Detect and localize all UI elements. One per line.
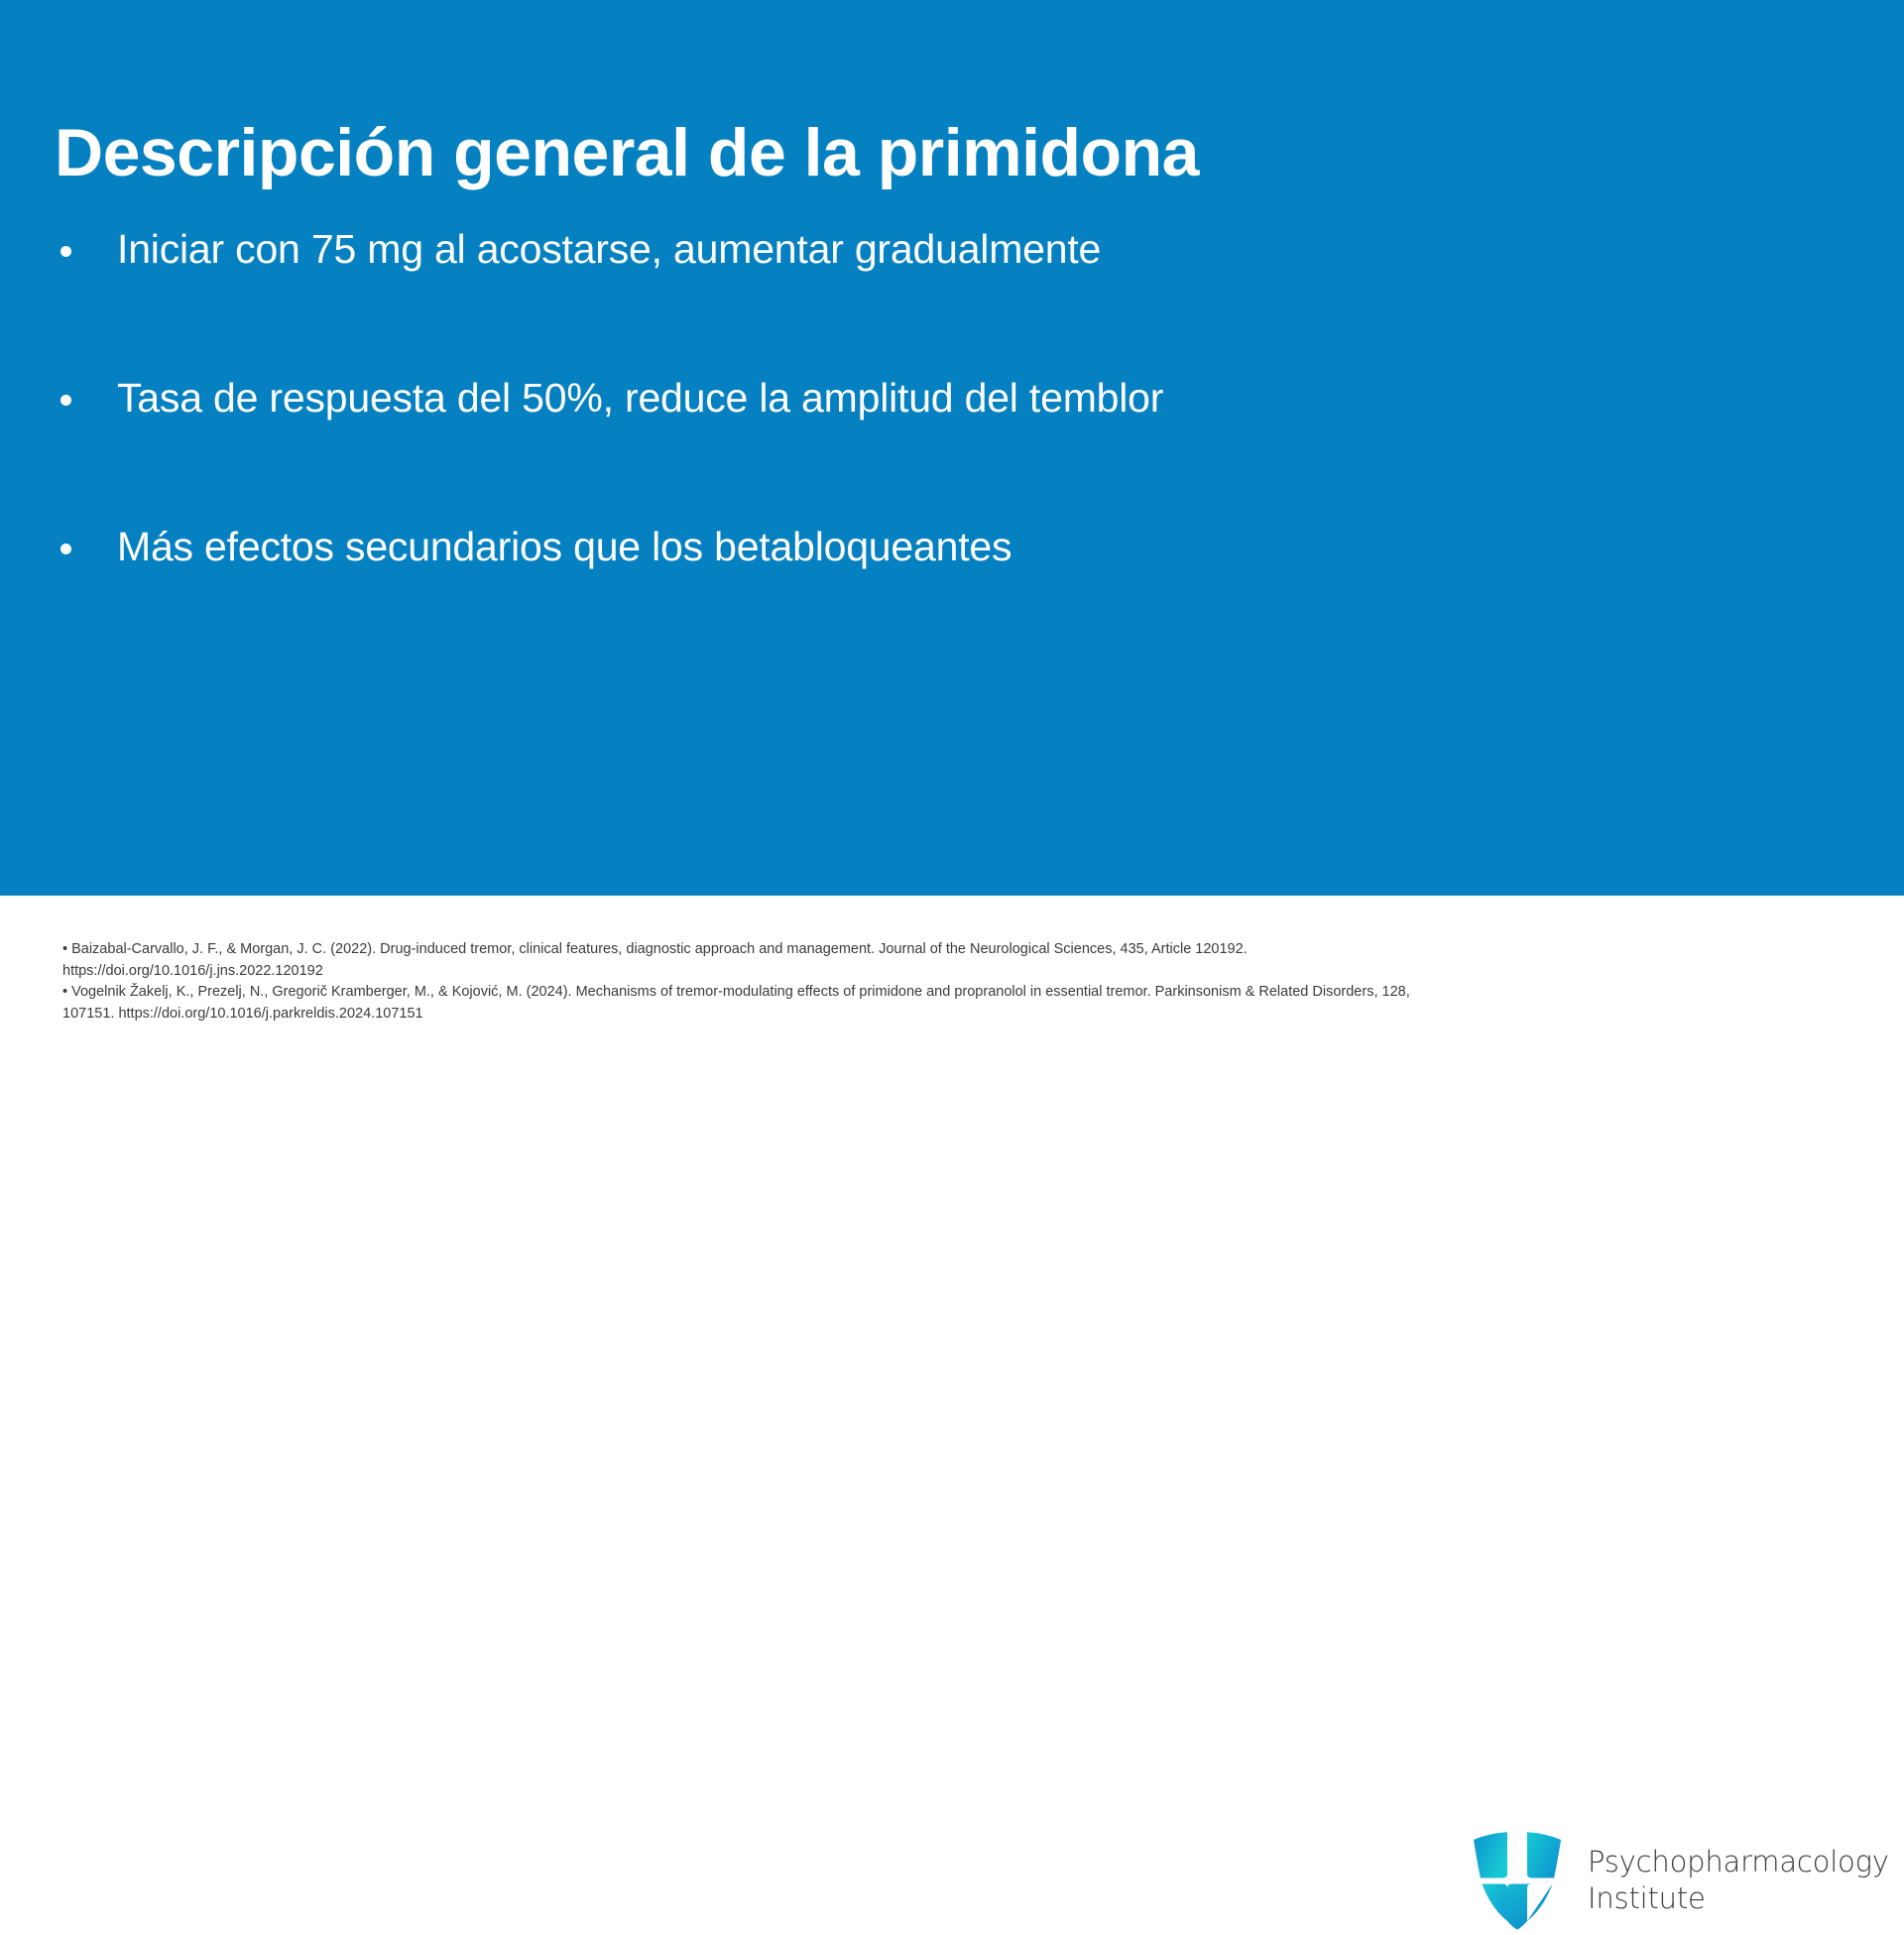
list-item: Tasa de respuesta del 50%, reduce la amp…: [55, 375, 1830, 524]
shield-cross-icon: [1470, 1829, 1565, 1932]
bullet-dot-icon: [60, 544, 71, 554]
bullet-text: Tasa de respuesta del 50%, reduce la amp…: [117, 375, 1830, 422]
citation-entry: • Vogelnik Žakelj, K., Prezelj, N., Greg…: [62, 982, 1451, 1025]
brand-wordmark: Psychopharmacology Institute: [1588, 1844, 1889, 1917]
presentation-slide: Descripción general de la primidona Inic…: [0, 0, 1904, 1071]
brand-logo: Psychopharmacology Institute: [1470, 1826, 1886, 1935]
page-title: Descripción general de la primidona: [55, 117, 1800, 189]
bullet-dot-icon: [60, 246, 71, 257]
bullet-text: Más efectos secundarios que los betabloq…: [117, 524, 1830, 570]
citation-list: • Baizabal-Carvallo, J. F., & Morgan, J.…: [62, 939, 1451, 1025]
citation-entry: • Baizabal-Carvallo, J. F., & Morgan, J.…: [62, 939, 1451, 982]
bullet-text: Iniciar con 75 mg al acostarse, aumentar…: [117, 226, 1830, 273]
bullet-dot-icon: [60, 395, 71, 406]
bullet-list: Iniciar con 75 mg al acostarse, aumentar…: [55, 226, 1830, 672]
slide-footer: • Baizabal-Carvallo, J. F., & Morgan, J.…: [0, 896, 1904, 1071]
slide-content-panel: Descripción general de la primidona Inic…: [0, 0, 1904, 896]
list-item: Iniciar con 75 mg al acostarse, aumentar…: [55, 226, 1830, 375]
list-item: Más efectos secundarios que los betabloq…: [55, 524, 1830, 672]
brand-wordmark-line-1: Psychopharmacology: [1588, 1844, 1889, 1880]
brand-wordmark-line-2: Institute: [1588, 1880, 1889, 1917]
